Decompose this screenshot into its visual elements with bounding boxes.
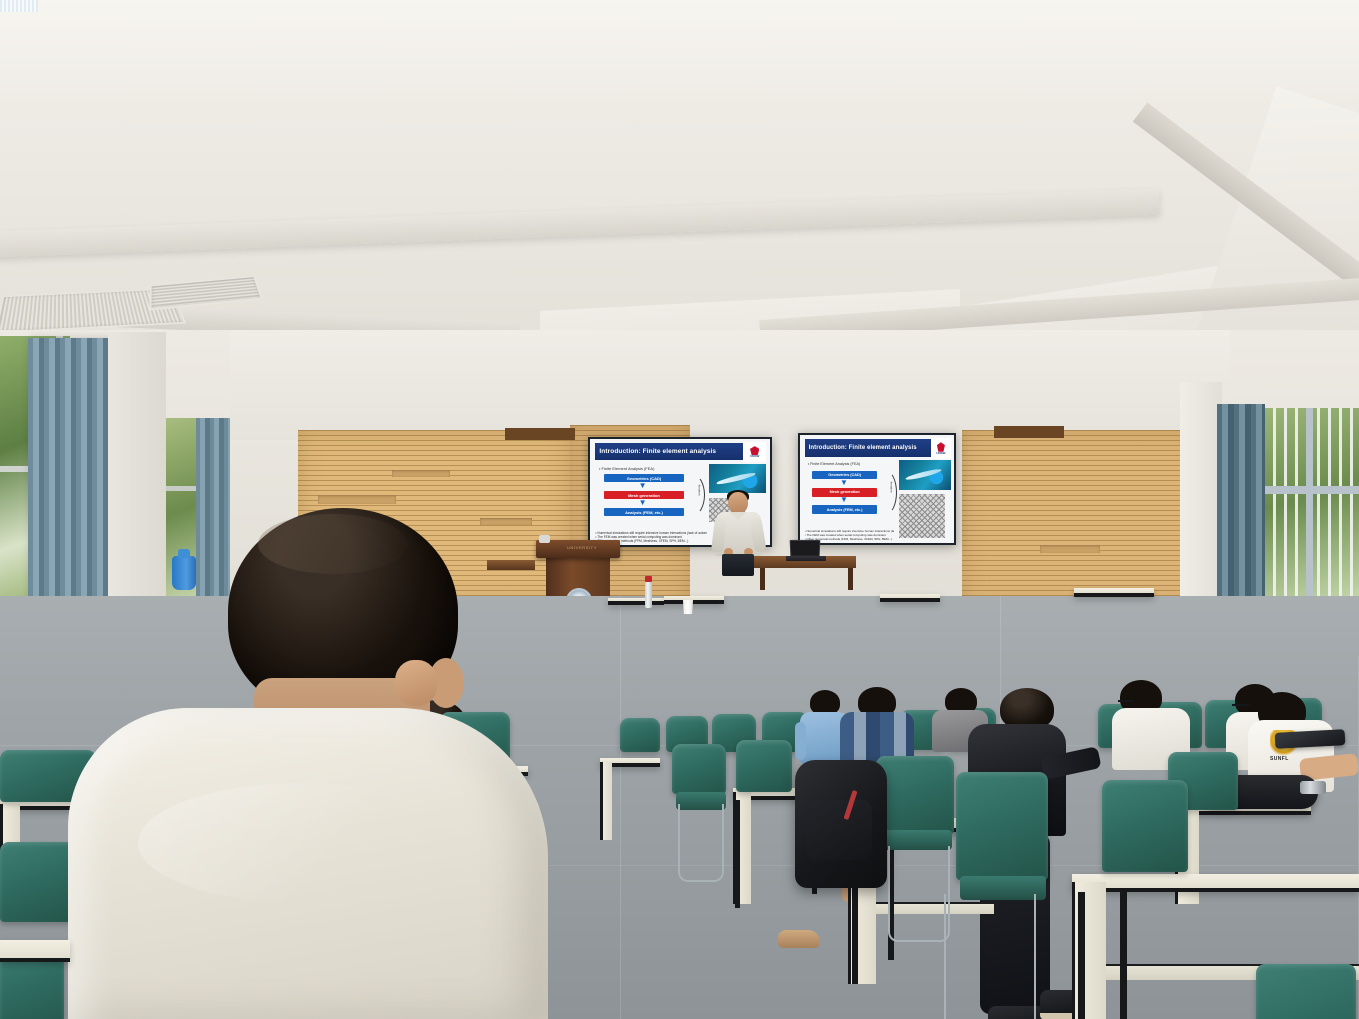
desk-far-4: [1074, 588, 1154, 597]
wood-panel-header-left: [505, 428, 575, 440]
presenter-laptop-icon: [790, 540, 821, 557]
slide-arrow-2: ▼: [639, 500, 647, 506]
cfd-fish-simulation-image: [709, 464, 767, 493]
water-bottle-icon: [645, 582, 652, 608]
umbrella-tip: [1300, 781, 1326, 794]
wood-panel-header-right: [994, 426, 1064, 438]
slide-arrow-1b: ▼: [840, 480, 848, 486]
curtain-right: [1217, 404, 1265, 600]
ceiling-light-strip: [0, 0, 38, 12]
audience-foreground-white-shirt: [78, 508, 558, 1019]
slide-bullet-top-2: • Finite Element Analysis (FEA): [808, 462, 861, 466]
slide-title-bar-2: Introduction: Finite element analysis: [805, 439, 934, 456]
back-wall-upper: [230, 330, 1230, 440]
presenter-head: [728, 492, 748, 514]
desk-foreground-left: [0, 940, 70, 962]
wood-panel-inset-d: [1040, 545, 1100, 553]
desk-far-1: [608, 598, 664, 605]
slide-iteration-label-2: Iteration: [890, 481, 894, 492]
slide-bullet-top: • Finite Element Analysis (FEA): [599, 466, 654, 471]
ceiling-beam-main: [0, 189, 1160, 258]
slide-title: Introduction: Finite element analysis: [599, 448, 716, 455]
foreground-person-hair-highlight: [258, 514, 408, 574]
backpack-front-pocket: [806, 800, 872, 860]
unsw-shield-logo-icon-2: UNSW: [931, 438, 951, 459]
front-table-leg-right: [848, 568, 853, 590]
mesh-grid-image-2: [899, 494, 945, 537]
window-right-frame: [1262, 408, 1359, 608]
ceiling-slab: [0, 0, 1359, 100]
foreground-person-shirt-fold: [138, 783, 468, 903]
podium-engraving: UNIVERSITY: [556, 545, 608, 550]
paper-cup-icon: [682, 600, 694, 614]
water-bottle-cap: [645, 576, 652, 582]
front-table-leg-left: [760, 568, 765, 590]
presenter-trousers: [722, 554, 754, 576]
slide-flow-box-3b: Analysis (FEM, etc.): [812, 505, 877, 514]
slide-title-2: Introduction: Finite element analysis: [809, 445, 917, 451]
tshirt-graphic-text: SUNFL: [1270, 756, 1289, 762]
cfd-fish-simulation-image-2: [899, 460, 951, 490]
slide-arrow-2b: ▼: [840, 497, 848, 503]
unsw-shield-logo-icon: UNSW: [743, 442, 766, 462]
slide-title-bar: Introduction: Finite element analysis: [595, 443, 746, 460]
lecture-hall-photo: Introduction: Finite element analysis UN…: [0, 0, 1359, 1019]
desk-far-3: [880, 594, 940, 602]
wood-panel-inset-a: [318, 495, 396, 504]
slide-iteration-arc-2: [874, 470, 897, 515]
presenter-laptop-base: [786, 556, 826, 561]
slide-arrow-1: ▼: [639, 483, 647, 489]
slide-flow-box-3: Analysis (FEM, etc.): [604, 508, 683, 516]
desk-far-2: [664, 596, 724, 604]
audience-hand: [395, 660, 437, 706]
slide-iteration-label: Iteration: [698, 484, 702, 495]
projection-screen-right: Introduction: Finite element analysis UN…: [798, 433, 956, 545]
wall-pillar-right: [1180, 382, 1222, 602]
wood-panel-inset-b: [392, 470, 450, 477]
